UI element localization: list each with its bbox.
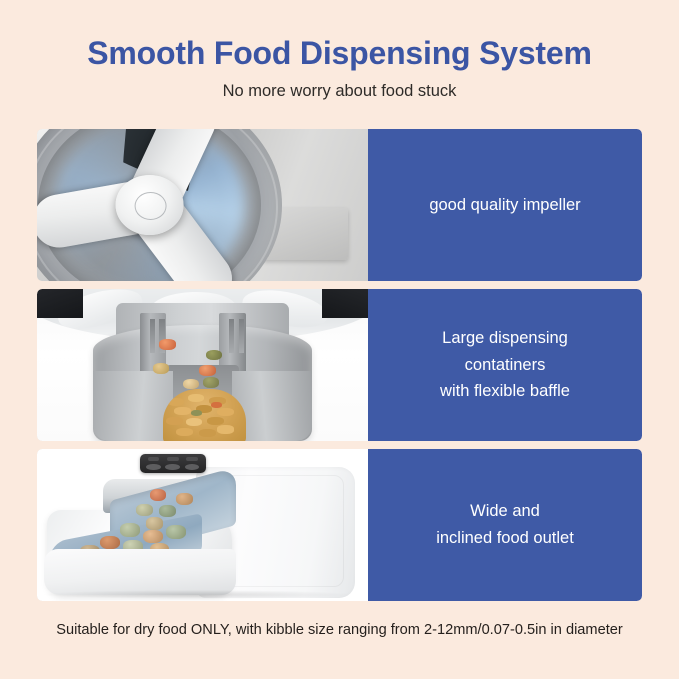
baffle-fin	[150, 319, 155, 352]
control-panel	[140, 454, 206, 474]
kibble	[176, 493, 193, 505]
kibble	[191, 410, 203, 416]
caption-line: with flexible baffle	[440, 378, 570, 405]
infographic-page: Smooth Food Dispensing System No more wo…	[0, 0, 679, 679]
page-title: Smooth Food Dispensing System	[0, 36, 679, 71]
caption-line: good quality impeller	[429, 192, 580, 219]
kibble	[217, 408, 234, 416]
kibble	[217, 425, 234, 433]
caption-line: Large dispensing	[442, 325, 568, 352]
kibble	[143, 530, 163, 544]
falling-kibble	[183, 379, 200, 390]
falling-kibble	[153, 363, 170, 374]
baffle-fin	[229, 319, 234, 352]
baffle-fin	[239, 319, 244, 352]
caption-line: contatiners	[465, 352, 546, 379]
kibble-pile	[163, 389, 246, 441]
control-button[interactable]	[167, 457, 179, 461]
feature-caption: Large dispensing contatiners with flexib…	[368, 289, 642, 441]
bowl-front-lip	[44, 549, 236, 595]
falling-kibble	[199, 365, 216, 376]
kibble	[199, 429, 216, 437]
kibble	[166, 525, 186, 539]
feature-row-list: good quality impeller	[37, 129, 642, 601]
feature-caption: Wide and inclined food outlet	[368, 449, 642, 601]
kibble	[159, 505, 176, 517]
kibble	[100, 536, 120, 550]
kibble	[136, 504, 153, 516]
kibble	[207, 417, 224, 425]
falling-kibble	[159, 339, 176, 350]
drum-front-left	[93, 371, 172, 441]
falling-kibble	[203, 377, 220, 388]
hopper-bowl	[37, 129, 282, 281]
control-button[interactable]	[185, 464, 200, 470]
control-button[interactable]	[146, 464, 161, 470]
kibble	[146, 517, 163, 529]
feature-row: Wide and inclined food outlet	[37, 449, 642, 601]
control-button[interactable]	[165, 464, 180, 470]
control-button[interactable]	[148, 457, 160, 461]
caption-line: inclined food outlet	[436, 525, 574, 552]
dispensing-container-photo	[37, 289, 368, 441]
food-outlet-photo	[37, 449, 368, 601]
caption-line: Wide and	[470, 498, 540, 525]
impeller-hub	[115, 175, 184, 235]
drop-shadow	[44, 590, 349, 599]
kibble	[168, 398, 185, 406]
kibble	[174, 407, 191, 415]
page-subtitle: No more worry about food stuck	[0, 82, 679, 102]
kibble	[211, 402, 222, 408]
kibble	[166, 417, 183, 425]
kibble	[183, 511, 200, 523]
footer-note: Suitable for dry food ONLY, with kibble …	[0, 622, 679, 638]
feature-row: good quality impeller	[37, 129, 642, 281]
header: Smooth Food Dispensing System No more wo…	[0, 0, 679, 102]
control-button[interactable]	[186, 457, 198, 461]
impeller-photo	[37, 129, 368, 281]
kibble	[188, 394, 205, 402]
kibble	[186, 418, 203, 426]
feature-row: Large dispensing contatiners with flexib…	[37, 289, 642, 441]
housing-shadow-right	[322, 289, 368, 318]
kibble	[120, 523, 140, 537]
kibble	[176, 428, 193, 436]
feature-caption: good quality impeller	[368, 129, 642, 281]
housing-shadow-left	[37, 289, 83, 318]
kibble	[150, 489, 167, 501]
